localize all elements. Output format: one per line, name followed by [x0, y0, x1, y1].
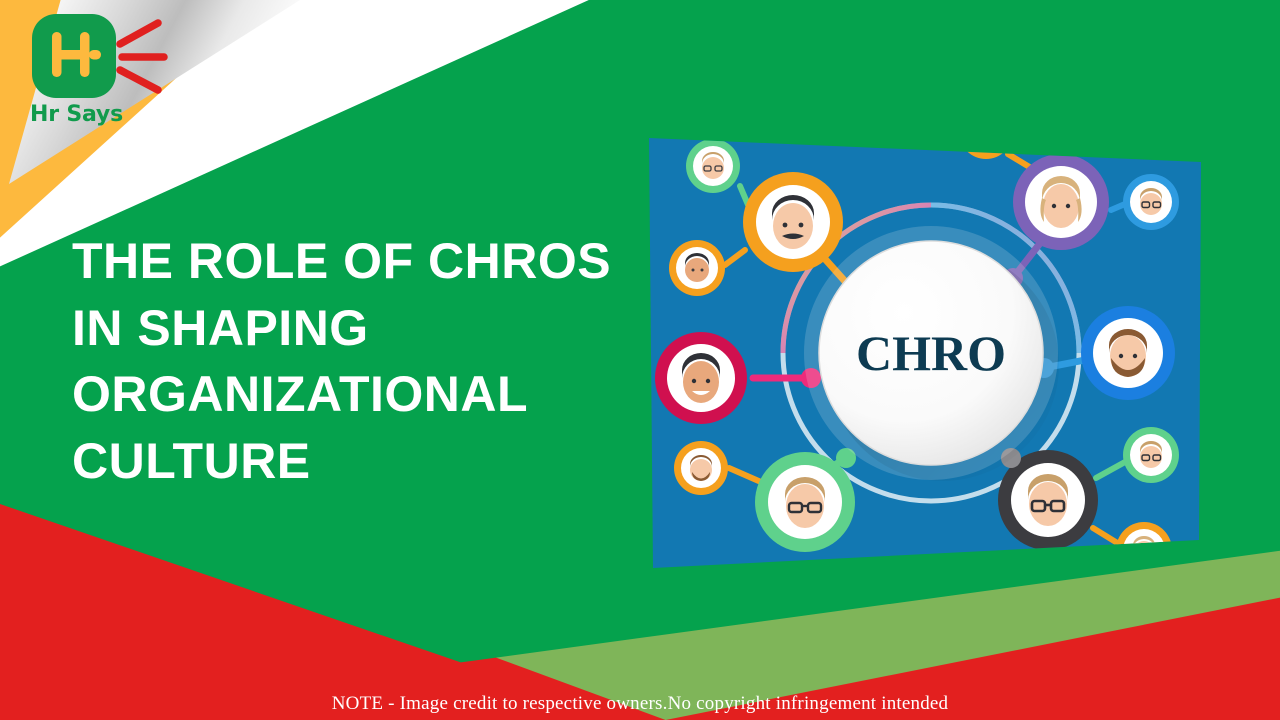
brand-name: Hr Says	[30, 102, 150, 127]
node-orange-beard-small[interactable]	[674, 441, 728, 495]
node-purple-blonde-woman[interactable]	[1013, 154, 1109, 250]
node-pink-smiling-woman[interactable]	[655, 332, 747, 424]
copyright-note: NOTE - Image credit to respective owners…	[0, 693, 1280, 715]
hr-monogram-icon	[32, 14, 116, 98]
logo-rays-icon	[116, 18, 174, 96]
node-orange-top-small[interactable]	[959, 110, 1013, 159]
chro-network-diagram: CHRO	[641, 110, 1207, 590]
brand-logo[interactable]: Hr Says	[24, 14, 174, 139]
node-blue-glasses-small[interactable]	[1123, 174, 1179, 230]
chro-center-node[interactable]: CHRO	[804, 226, 1059, 481]
chro-center-label: CHRO	[856, 325, 1006, 381]
node-orange-moustache-man[interactable]	[743, 172, 843, 272]
page-title: THE ROLE OF CHROS IN SHAPING ORGANIZATIO…	[72, 228, 632, 494]
slide-canvas: Hr Says THE ROLE OF CHROS IN SHAPING ORG…	[0, 0, 1280, 720]
node-orange-darkhair-small[interactable]	[669, 240, 725, 296]
node-green-glasses-person[interactable]	[755, 452, 855, 552]
node-orange-blonde-small[interactable]	[1116, 522, 1172, 578]
chro-diagram-svg: CHRO	[641, 110, 1207, 590]
node-blue-beard-man[interactable]	[1081, 306, 1175, 400]
node-green-glasses-small[interactable]	[686, 139, 740, 193]
node-green-glasses-small-2[interactable]	[1123, 427, 1179, 483]
